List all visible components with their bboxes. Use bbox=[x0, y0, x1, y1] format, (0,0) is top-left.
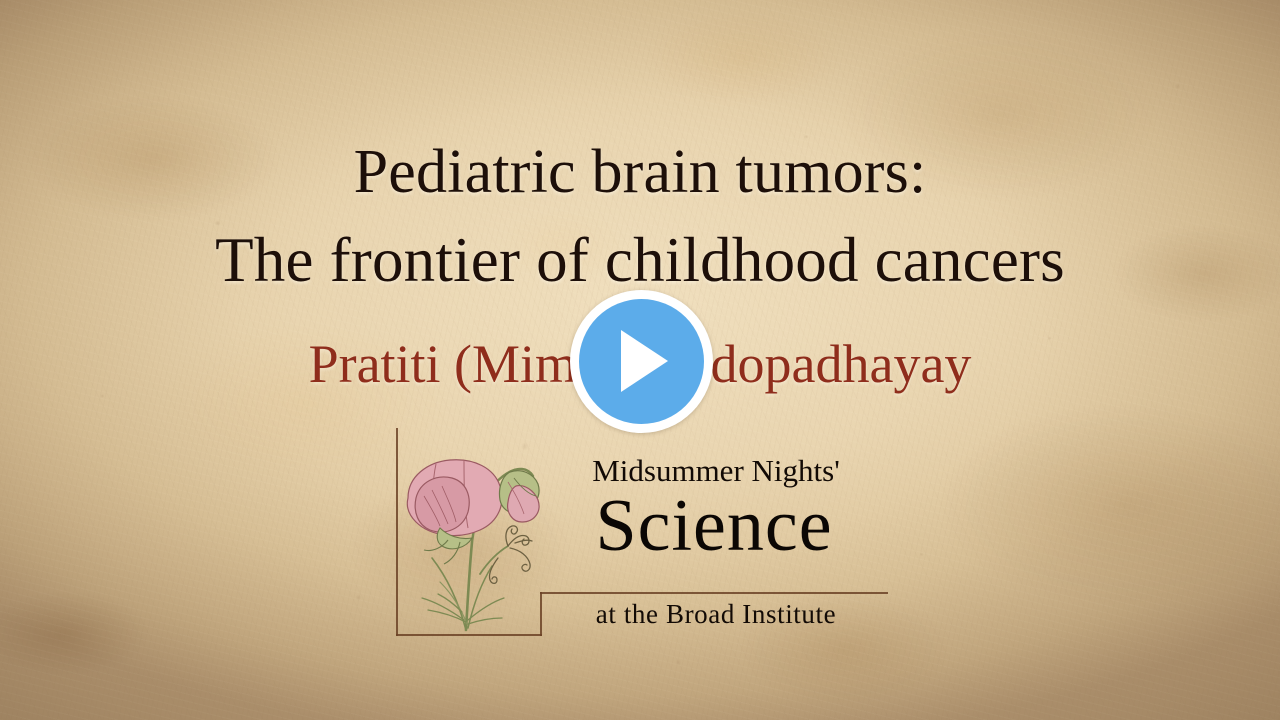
sweet-pea-flower-icon bbox=[388, 424, 558, 640]
logo-series-name: Midsummer Nights' bbox=[542, 454, 890, 488]
logo-affiliation: at the Broad Institute bbox=[540, 598, 892, 630]
play-button[interactable] bbox=[570, 290, 713, 433]
video-player[interactable]: Pediatric brain tumors: The frontier of … bbox=[0, 0, 1280, 720]
midsummer-nights-science-logo: Midsummer Nights' Science at the Broad I… bbox=[388, 424, 892, 640]
logo-wordmark: Midsummer Nights' Science at the Broad I… bbox=[536, 426, 892, 640]
play-triangle-icon bbox=[621, 330, 668, 392]
logo-science-word: Science bbox=[536, 484, 892, 568]
